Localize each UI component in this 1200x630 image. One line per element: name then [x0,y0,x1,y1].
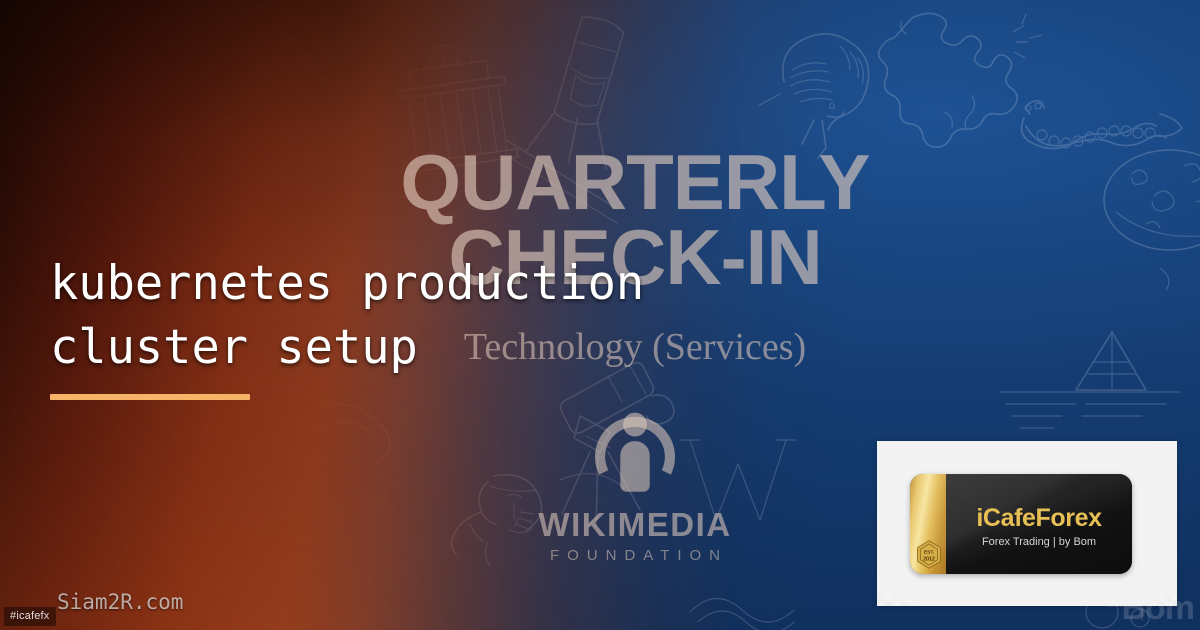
est-badge-line2: 2012 [923,557,935,563]
est-badge-line1: EST. [924,550,935,556]
headline-underline-accent [50,394,250,400]
headline-block: kubernetes production cluster setup [50,252,750,400]
promo-business-card[interactable]: iCafeForex Forex Trading | by Bom EST. 2… [910,474,1132,574]
promo-card-brand: iCafeForex [946,504,1132,533]
headline-text: kubernetes production cluster setup [50,252,750,380]
est-badge-icon: EST. 2012 [916,540,942,569]
site-watermark: Siam2R.com [57,590,183,614]
promo-card-frame[interactable]: iCafeForex Forex Trading | by Bom EST. 2… [877,441,1177,606]
slide-canvas: QUARTERLY CHECK-IN Technology (Services)… [0,0,1200,630]
hashtag-chip: #icafefx [4,607,56,626]
promo-card-tagline: Forex Trading | by Bom [946,536,1132,548]
